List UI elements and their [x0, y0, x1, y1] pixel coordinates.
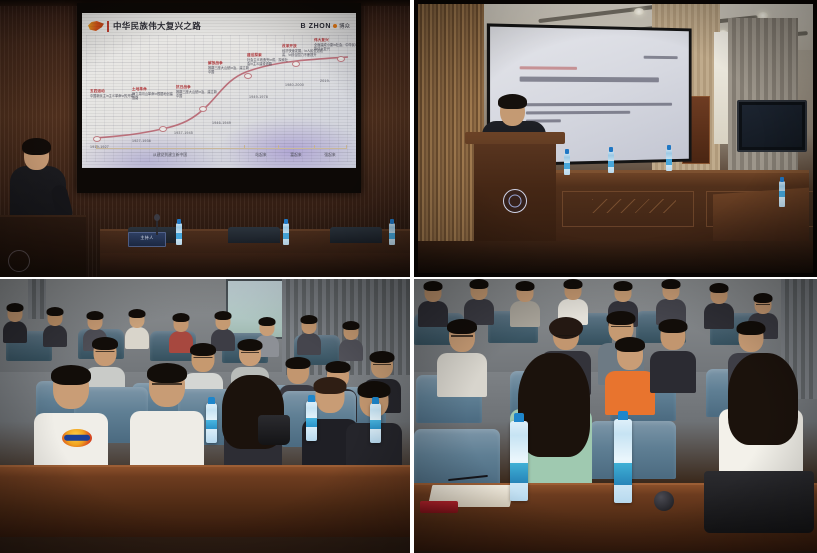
person-hair — [314, 377, 347, 394]
date-label-4: 1946-1949 — [212, 121, 231, 125]
person-hair — [564, 279, 583, 289]
bottle-cap — [372, 397, 379, 404]
person-hair — [370, 351, 395, 363]
name-plate: 主持人 — [128, 232, 166, 247]
person-body — [650, 351, 696, 393]
person-body — [605, 371, 655, 415]
tshirt-logo — [62, 429, 92, 447]
university-seal-icon — [503, 189, 527, 213]
audience-member — [298, 317, 320, 353]
axis-tick — [346, 145, 347, 149]
axis-category-3: 富起来 — [290, 153, 301, 158]
audience-desk — [0, 465, 410, 537]
water-bottle — [176, 223, 182, 245]
water-bottle — [389, 223, 395, 245]
person-body — [3, 321, 27, 343]
person-hair — [470, 279, 489, 289]
milestone-body: 确立井冈山革命\n根据地创建道路 — [132, 92, 176, 100]
date-label-5: 1949-1978 — [249, 95, 268, 99]
glasses-icon — [373, 364, 391, 367]
date-label-7: 2019- — [320, 79, 330, 83]
bottle-label — [306, 418, 317, 427]
stage-floor — [418, 241, 813, 273]
photo-audience-note-taking — [414, 279, 817, 553]
projection-screen: 中华民族伟大复兴之路 B ZHON 博众 — [77, 3, 361, 193]
person-hair — [754, 293, 773, 303]
person-body — [339, 339, 363, 361]
person-hair — [92, 337, 118, 350]
person-hair — [326, 361, 351, 373]
person-hair — [710, 283, 729, 293]
milestone-1: 五四运动 中国新民主\n主义革命\n的开端 — [90, 89, 134, 98]
audience-member — [658, 281, 684, 321]
slide-timeline: 中华民族伟大复兴之路 B ZHON 博众 — [82, 13, 356, 168]
person-hair — [737, 321, 766, 335]
axis-tick — [244, 145, 245, 149]
water-bottle — [564, 153, 570, 175]
person-hair — [659, 319, 688, 333]
monitor-screen — [742, 105, 802, 147]
milestone-heading: 伟大复兴 — [314, 38, 356, 42]
auditorium-seat — [590, 421, 676, 479]
milestone-heading: 解放战争 — [208, 61, 252, 65]
person-hair — [87, 311, 104, 320]
photo-audience-front-rows — [0, 279, 410, 553]
water-bottle — [306, 401, 317, 441]
milestone-7: 伟大复兴 全面建成小康\n社会，中华民\n族伟大复兴 — [314, 38, 356, 51]
audience-member — [610, 339, 650, 411]
brand-name: B ZHON — [301, 23, 331, 30]
axis-category-1: 从建党到建立新中国 — [153, 153, 187, 158]
water-bottle — [283, 223, 289, 245]
audience-member-front — [44, 367, 98, 477]
audience-member — [4, 305, 26, 341]
person-hair — [215, 311, 232, 320]
photo-speaker-timeline-slide: 中华民族伟大复兴之路 B ZHON 博众 — [0, 0, 410, 277]
water-bottle — [206, 403, 217, 443]
audience-member-front — [140, 365, 194, 475]
person-hair — [607, 311, 636, 325]
curve-node — [337, 56, 345, 62]
person-hair — [447, 319, 477, 334]
water-bottle — [779, 181, 785, 207]
person-long-hair — [728, 353, 798, 445]
date-label-6: 1980-2000 — [285, 83, 304, 87]
name-plate-text: 主持人 — [129, 235, 165, 241]
timeline-chart: 五四运动 中国新民主\n主义革命\n的开端 土地革命 确立井冈山革命\n根据地创… — [86, 35, 352, 162]
audience-member — [560, 281, 586, 321]
dais-ornament — [592, 199, 676, 213]
slide-subtitle-line — [520, 66, 577, 70]
person-hair — [286, 357, 311, 369]
audience-member — [512, 283, 538, 323]
audience-member — [706, 285, 732, 325]
water-bottle — [666, 149, 672, 171]
bottle-cap — [618, 411, 628, 420]
bottle-cap — [514, 413, 524, 422]
microphone-icon — [654, 491, 674, 511]
person-body — [43, 325, 67, 347]
speaker-hair — [498, 94, 527, 109]
person-hair — [129, 309, 146, 318]
bottle-label — [206, 420, 217, 429]
person-hair — [173, 313, 190, 322]
side-table — [713, 188, 809, 249]
lectern — [0, 215, 86, 277]
person-hair — [662, 279, 681, 289]
phone — [420, 501, 458, 513]
glasses-icon — [756, 304, 770, 307]
audience-member — [420, 283, 446, 323]
audience-member — [212, 313, 234, 349]
person-hair — [51, 365, 91, 385]
lectern-top — [465, 132, 565, 144]
bottle-cap — [208, 397, 215, 404]
bottle-cap — [308, 395, 315, 402]
photo-podium-speaker — [414, 0, 817, 277]
milestone-body: 全面建成小康\n社会，中华民\n族伟大复兴 — [314, 43, 356, 51]
person-hair — [516, 281, 535, 291]
water-bottle — [614, 419, 632, 503]
glasses-icon — [556, 335, 577, 338]
person-hair — [47, 307, 64, 316]
person-hair — [238, 339, 263, 351]
date-label-2: 1927-1936 — [132, 139, 151, 143]
person-hair — [424, 281, 443, 291]
milestone-body: 推翻三座大山统\n治，建立新中国 — [176, 90, 220, 98]
audience-member — [442, 321, 482, 393]
slide-header: 中华民族伟大复兴之路 B ZHON 博众 — [88, 19, 350, 33]
brand-logo: B ZHON 博众 — [301, 22, 350, 30]
milestone-body: 推翻三座大山统\n治，建立新中国 — [208, 66, 252, 74]
audience-member — [654, 321, 692, 389]
slide-title: 中华民族伟大复兴之路 — [113, 20, 201, 32]
curve-node — [292, 61, 300, 67]
bottle-label — [614, 463, 632, 485]
curve-node — [159, 126, 167, 132]
lecture-hall-interior — [418, 4, 813, 273]
glasses-icon — [611, 326, 631, 329]
person-hair — [190, 343, 216, 356]
person-hair — [7, 303, 24, 312]
bottle-label — [370, 420, 381, 429]
axis-tick — [96, 145, 97, 149]
dais-front-panel — [100, 253, 410, 277]
person-hair — [259, 317, 276, 326]
date-label-3: 1937-1945 — [174, 131, 193, 135]
dais-chair — [228, 227, 280, 243]
milestone-3: 抗日战争 推翻三座大山统\n治，建立新中国 — [176, 85, 220, 98]
axis-tick — [314, 145, 315, 149]
person-body — [704, 303, 734, 329]
axis-category-2: 站起来 — [255, 153, 266, 158]
water-bottle — [510, 421, 528, 501]
lectern-seal-icon — [8, 250, 30, 272]
water-bottle — [370, 403, 381, 443]
glasses-icon — [152, 383, 182, 387]
person-hair — [358, 381, 391, 398]
milestone-heading: 土地革命 — [132, 87, 176, 91]
glasses-icon — [26, 152, 47, 157]
brand-name-cn: 博众 — [339, 22, 350, 30]
milestone-4: 解放战争 推翻三座大山统\n治，建立新中国 — [208, 61, 252, 74]
person-body — [297, 333, 321, 355]
curve-node — [93, 136, 101, 142]
curve-node — [199, 106, 207, 112]
milestone-heading: 抗日战争 — [176, 85, 220, 89]
person-hair — [615, 337, 645, 352]
person-hair — [147, 363, 187, 383]
audience-member — [44, 309, 66, 345]
phoenix-emblem-icon — [88, 21, 104, 31]
person-hair — [301, 315, 318, 324]
person-body — [125, 327, 149, 349]
milestone-2: 土地革命 确立井冈山革命\n根据地创建道路 — [132, 87, 176, 100]
person-hair — [614, 281, 633, 291]
slide-corner-mark — [644, 56, 678, 59]
photo-collage: 中华民族伟大复兴之路 B ZHON 博众 — [0, 0, 817, 553]
glasses-icon — [194, 357, 213, 360]
axis-tick — [278, 145, 279, 149]
ceiling-light-icon — [634, 8, 644, 15]
axis-category-4: 强起来 — [324, 153, 335, 158]
milestone-body: 中国新民主\n主义革命\n的开端 — [90, 94, 134, 98]
audience-member — [340, 323, 362, 359]
glasses-icon — [451, 335, 473, 339]
audience-member — [466, 281, 492, 321]
backpack — [258, 415, 290, 445]
glasses-icon — [241, 352, 259, 355]
category-axis — [96, 148, 346, 149]
person-long-hair — [518, 353, 590, 457]
microphone-icon — [156, 219, 158, 235]
handbag — [704, 471, 814, 533]
brand-dot-icon — [333, 24, 337, 28]
bottle-label — [510, 463, 528, 483]
water-bottle — [608, 151, 614, 173]
dais-chair — [330, 227, 382, 243]
audience-member — [126, 311, 148, 347]
milestone-heading: 五四运动 — [90, 89, 134, 93]
person-body — [437, 353, 487, 397]
person-hair — [343, 321, 360, 330]
slide-heading-line — [520, 77, 659, 83]
person-body — [510, 301, 540, 327]
wall-monitor — [737, 100, 807, 152]
milestone-body: 社会主义改造完\n成，探索社会\n主义建设道路 — [247, 58, 291, 66]
title-accent-bar — [107, 21, 109, 32]
glasses-icon — [96, 351, 115, 354]
